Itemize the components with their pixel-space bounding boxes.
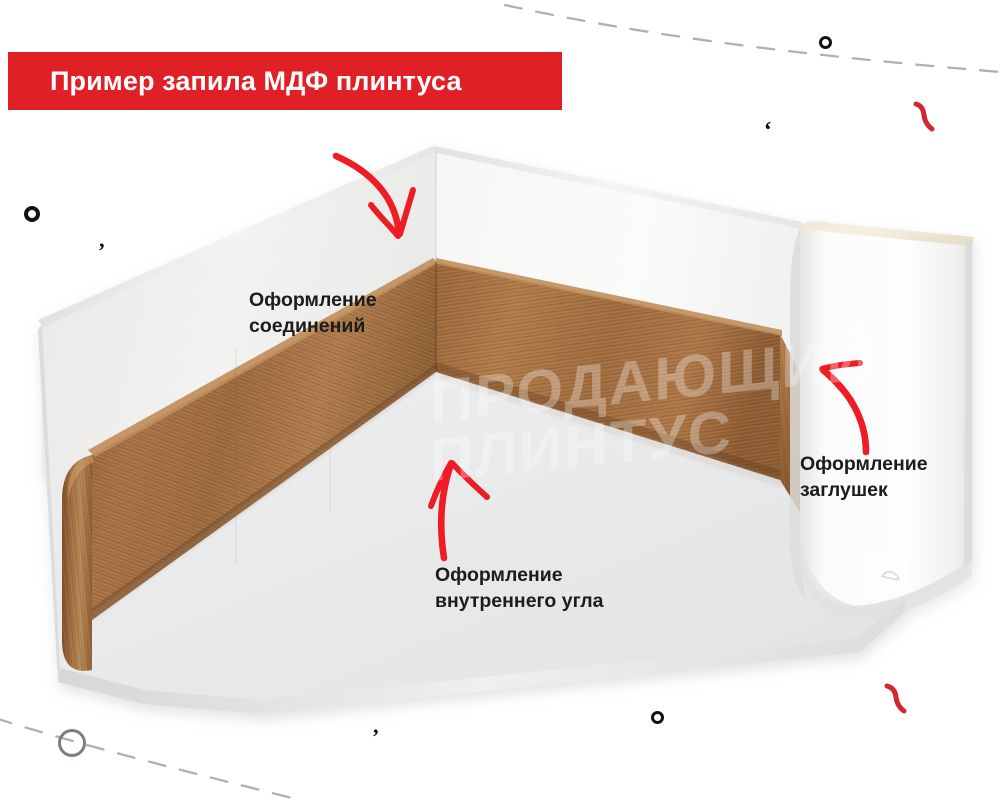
outline-circle-bottom-left bbox=[58, 729, 86, 757]
skirting-left-end-cap bbox=[62, 455, 94, 671]
comma-mark-left: ’ bbox=[98, 240, 105, 262]
illustration-canvas: ПРОДАЮЩИЙ ПЛИНТУС Пример запила МДФ плин… bbox=[0, 0, 1000, 800]
squiggle-top-right bbox=[916, 104, 932, 129]
comma-mark-bottom-left: ’ bbox=[372, 726, 379, 748]
squiggle-bottom-right bbox=[887, 686, 904, 711]
plinth-corner-scene bbox=[0, 0, 1000, 800]
title-banner: Пример запила МДФ плинтуса bbox=[8, 52, 562, 110]
title-text: Пример запила МДФ плинтуса bbox=[8, 68, 462, 95]
dashed-curve-top bbox=[505, 5, 1000, 72]
ring-dot-left bbox=[24, 206, 40, 222]
floor-logo-glyph bbox=[864, 554, 910, 594]
plinth-assembly bbox=[38, 146, 974, 714]
ring-dot-top-right bbox=[819, 36, 832, 49]
ring-dot-bottom bbox=[651, 711, 664, 724]
dashed-curve-bottom bbox=[0, 718, 300, 800]
comma-mark-top-right: ’ bbox=[764, 108, 772, 132]
